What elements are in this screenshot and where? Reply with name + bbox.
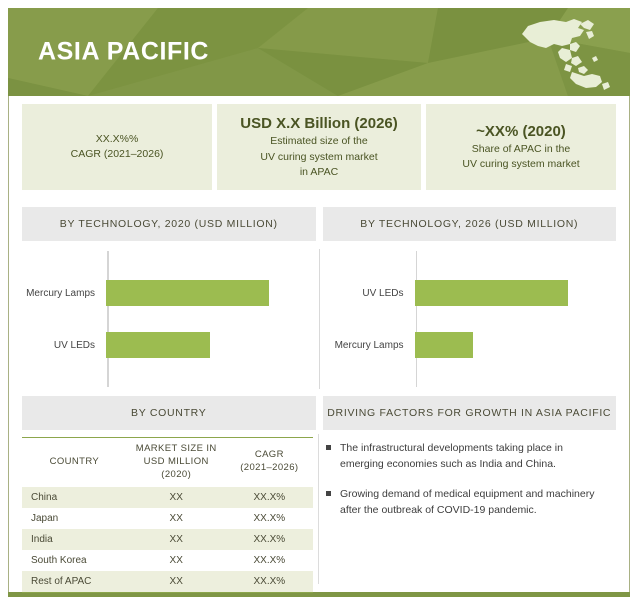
- square-bullet-icon: [326, 491, 331, 496]
- table-row: India XX XX.X%: [22, 529, 313, 550]
- table-cell-size: XX: [127, 550, 226, 571]
- table-cell-size: XX: [127, 529, 226, 550]
- driving-factors-list: The infrastructural developments taking …: [326, 440, 622, 531]
- section-header-tech-2026: BY TECHNOLOGY, 2026 (USD MILLION): [323, 207, 617, 241]
- table-cell-country: India: [22, 529, 127, 550]
- country-section-headers: BY COUNTRY DRIVING FACTORS FOR GROWTH IN…: [8, 396, 630, 430]
- country-table: COUNTRY MARKET SIZE IN USD MILLION (2020…: [22, 438, 313, 592]
- table-row: Rest of APAC XX XX.X%: [22, 571, 313, 592]
- stat-card-cagr: XX.X%% CAGR (2021–2026): [22, 104, 212, 190]
- table-header-market-size-line1: MARKET SIZE IN: [136, 443, 217, 454]
- header-banner: ASIA PACIFIC: [8, 8, 630, 96]
- table-row: South Korea XX XX.X%: [22, 550, 313, 571]
- table-header-country: COUNTRY: [22, 438, 127, 487]
- table-cell-country: China: [22, 487, 127, 508]
- table-header-market-size-line2: USD MILLION (2020): [144, 456, 209, 480]
- chart-tech-2026: UV LEDs Mercury Lamps: [320, 249, 631, 389]
- bar-mercury-lamps-2026: [415, 332, 473, 358]
- stat-market-size-caption-1: Estimated size of the: [270, 134, 367, 149]
- stat-market-size-caption-3: in APAC: [300, 165, 338, 180]
- page-title: ASIA PACIFIC: [38, 38, 209, 67]
- table-cell-country: Japan: [22, 508, 127, 529]
- driver-text: The infrastructural developments taking …: [340, 440, 606, 473]
- table-cell-country: South Korea: [22, 550, 127, 571]
- stat-share-caption-2: UV curing system market: [462, 157, 579, 172]
- chart-bar-row: UV LEDs: [320, 280, 617, 306]
- table-cell-cagr: XX.X%: [226, 550, 313, 571]
- chart-bar-row: Mercury Lamps: [8, 280, 305, 306]
- country-drivers-divider: [318, 434, 319, 584]
- table-header-cagr-line1: CAGR: [255, 449, 284, 460]
- bar-uv-leds-2026: [415, 280, 568, 306]
- bar-label: Mercury Lamps: [8, 288, 104, 299]
- table-cell-country: Rest of APAC: [22, 571, 127, 592]
- stat-market-size-caption-2: UV curing system market: [260, 150, 377, 165]
- table-header-cagr-line2: (2021–2026): [240, 462, 298, 473]
- table-header-row: COUNTRY MARKET SIZE IN USD MILLION (2020…: [22, 438, 313, 487]
- asia-pacific-map-icon: [514, 14, 614, 92]
- infographic-page: ASIA PACIFIC XX.X%% CAGR (2021–2026): [0, 0, 638, 605]
- stat-cagr-caption: CAGR (2021–2026): [71, 147, 164, 162]
- stat-share-value: ~XX% (2020): [476, 122, 566, 142]
- table-cell-size: XX: [127, 487, 226, 508]
- list-item: Growing demand of medical equipment and …: [326, 486, 606, 519]
- list-item: The infrastructural developments taking …: [326, 440, 606, 473]
- bar-label: UV LEDs: [8, 340, 104, 351]
- table-row: China XX XX.X%: [22, 487, 313, 508]
- stat-cagr-value: XX.X%%: [96, 132, 139, 148]
- country-table-wrapper: COUNTRY MARKET SIZE IN USD MILLION (2020…: [22, 437, 313, 593]
- table-cell-cagr: XX.X%: [226, 508, 313, 529]
- chart-tech-2020: Mercury Lamps UV LEDs: [8, 249, 320, 389]
- stat-card-market-size: USD X.X Billion (2026) Estimated size of…: [217, 104, 421, 190]
- table-header-market-size: MARKET SIZE IN USD MILLION (2020): [127, 438, 226, 487]
- table-cell-cagr: XX.X%: [226, 571, 313, 592]
- table-row: Japan XX XX.X%: [22, 508, 313, 529]
- table-cell-cagr: XX.X%: [226, 487, 313, 508]
- bar-uv-leds-2020: [106, 332, 210, 358]
- technology-charts: Mercury Lamps UV LEDs UV LEDs Mercury La…: [8, 249, 630, 389]
- table-header-cagr: CAGR (2021–2026): [226, 438, 313, 487]
- chart-bar-row: UV LEDs: [8, 332, 305, 358]
- stat-card-share: ~XX% (2020) Share of APAC in the UV curi…: [426, 104, 616, 190]
- table-cell-size: XX: [127, 508, 226, 529]
- chart-bar-row: Mercury Lamps: [320, 332, 617, 358]
- section-header-drivers: DRIVING FACTORS FOR GROWTH IN ASIA PACIF…: [323, 396, 617, 430]
- section-header-tech-2020: BY TECHNOLOGY, 2020 (USD MILLION): [22, 207, 316, 241]
- section-header-by-country: BY COUNTRY: [22, 396, 316, 430]
- technology-section-headers: BY TECHNOLOGY, 2020 (USD MILLION) BY TEC…: [8, 207, 630, 241]
- square-bullet-icon: [326, 445, 331, 450]
- table-cell-cagr: XX.X%: [226, 529, 313, 550]
- bar-label: UV LEDs: [320, 288, 413, 299]
- bar-label: Mercury Lamps: [320, 340, 413, 351]
- bar-mercury-lamps-2020: [106, 280, 269, 306]
- stat-market-size-value: USD X.X Billion (2026): [240, 114, 398, 134]
- driver-text: Growing demand of medical equipment and …: [340, 486, 606, 519]
- key-stats-row: XX.X%% CAGR (2021–2026) USD X.X Billion …: [8, 104, 630, 190]
- stat-share-caption-1: Share of APAC in the: [472, 142, 570, 157]
- table-cell-size: XX: [127, 571, 226, 592]
